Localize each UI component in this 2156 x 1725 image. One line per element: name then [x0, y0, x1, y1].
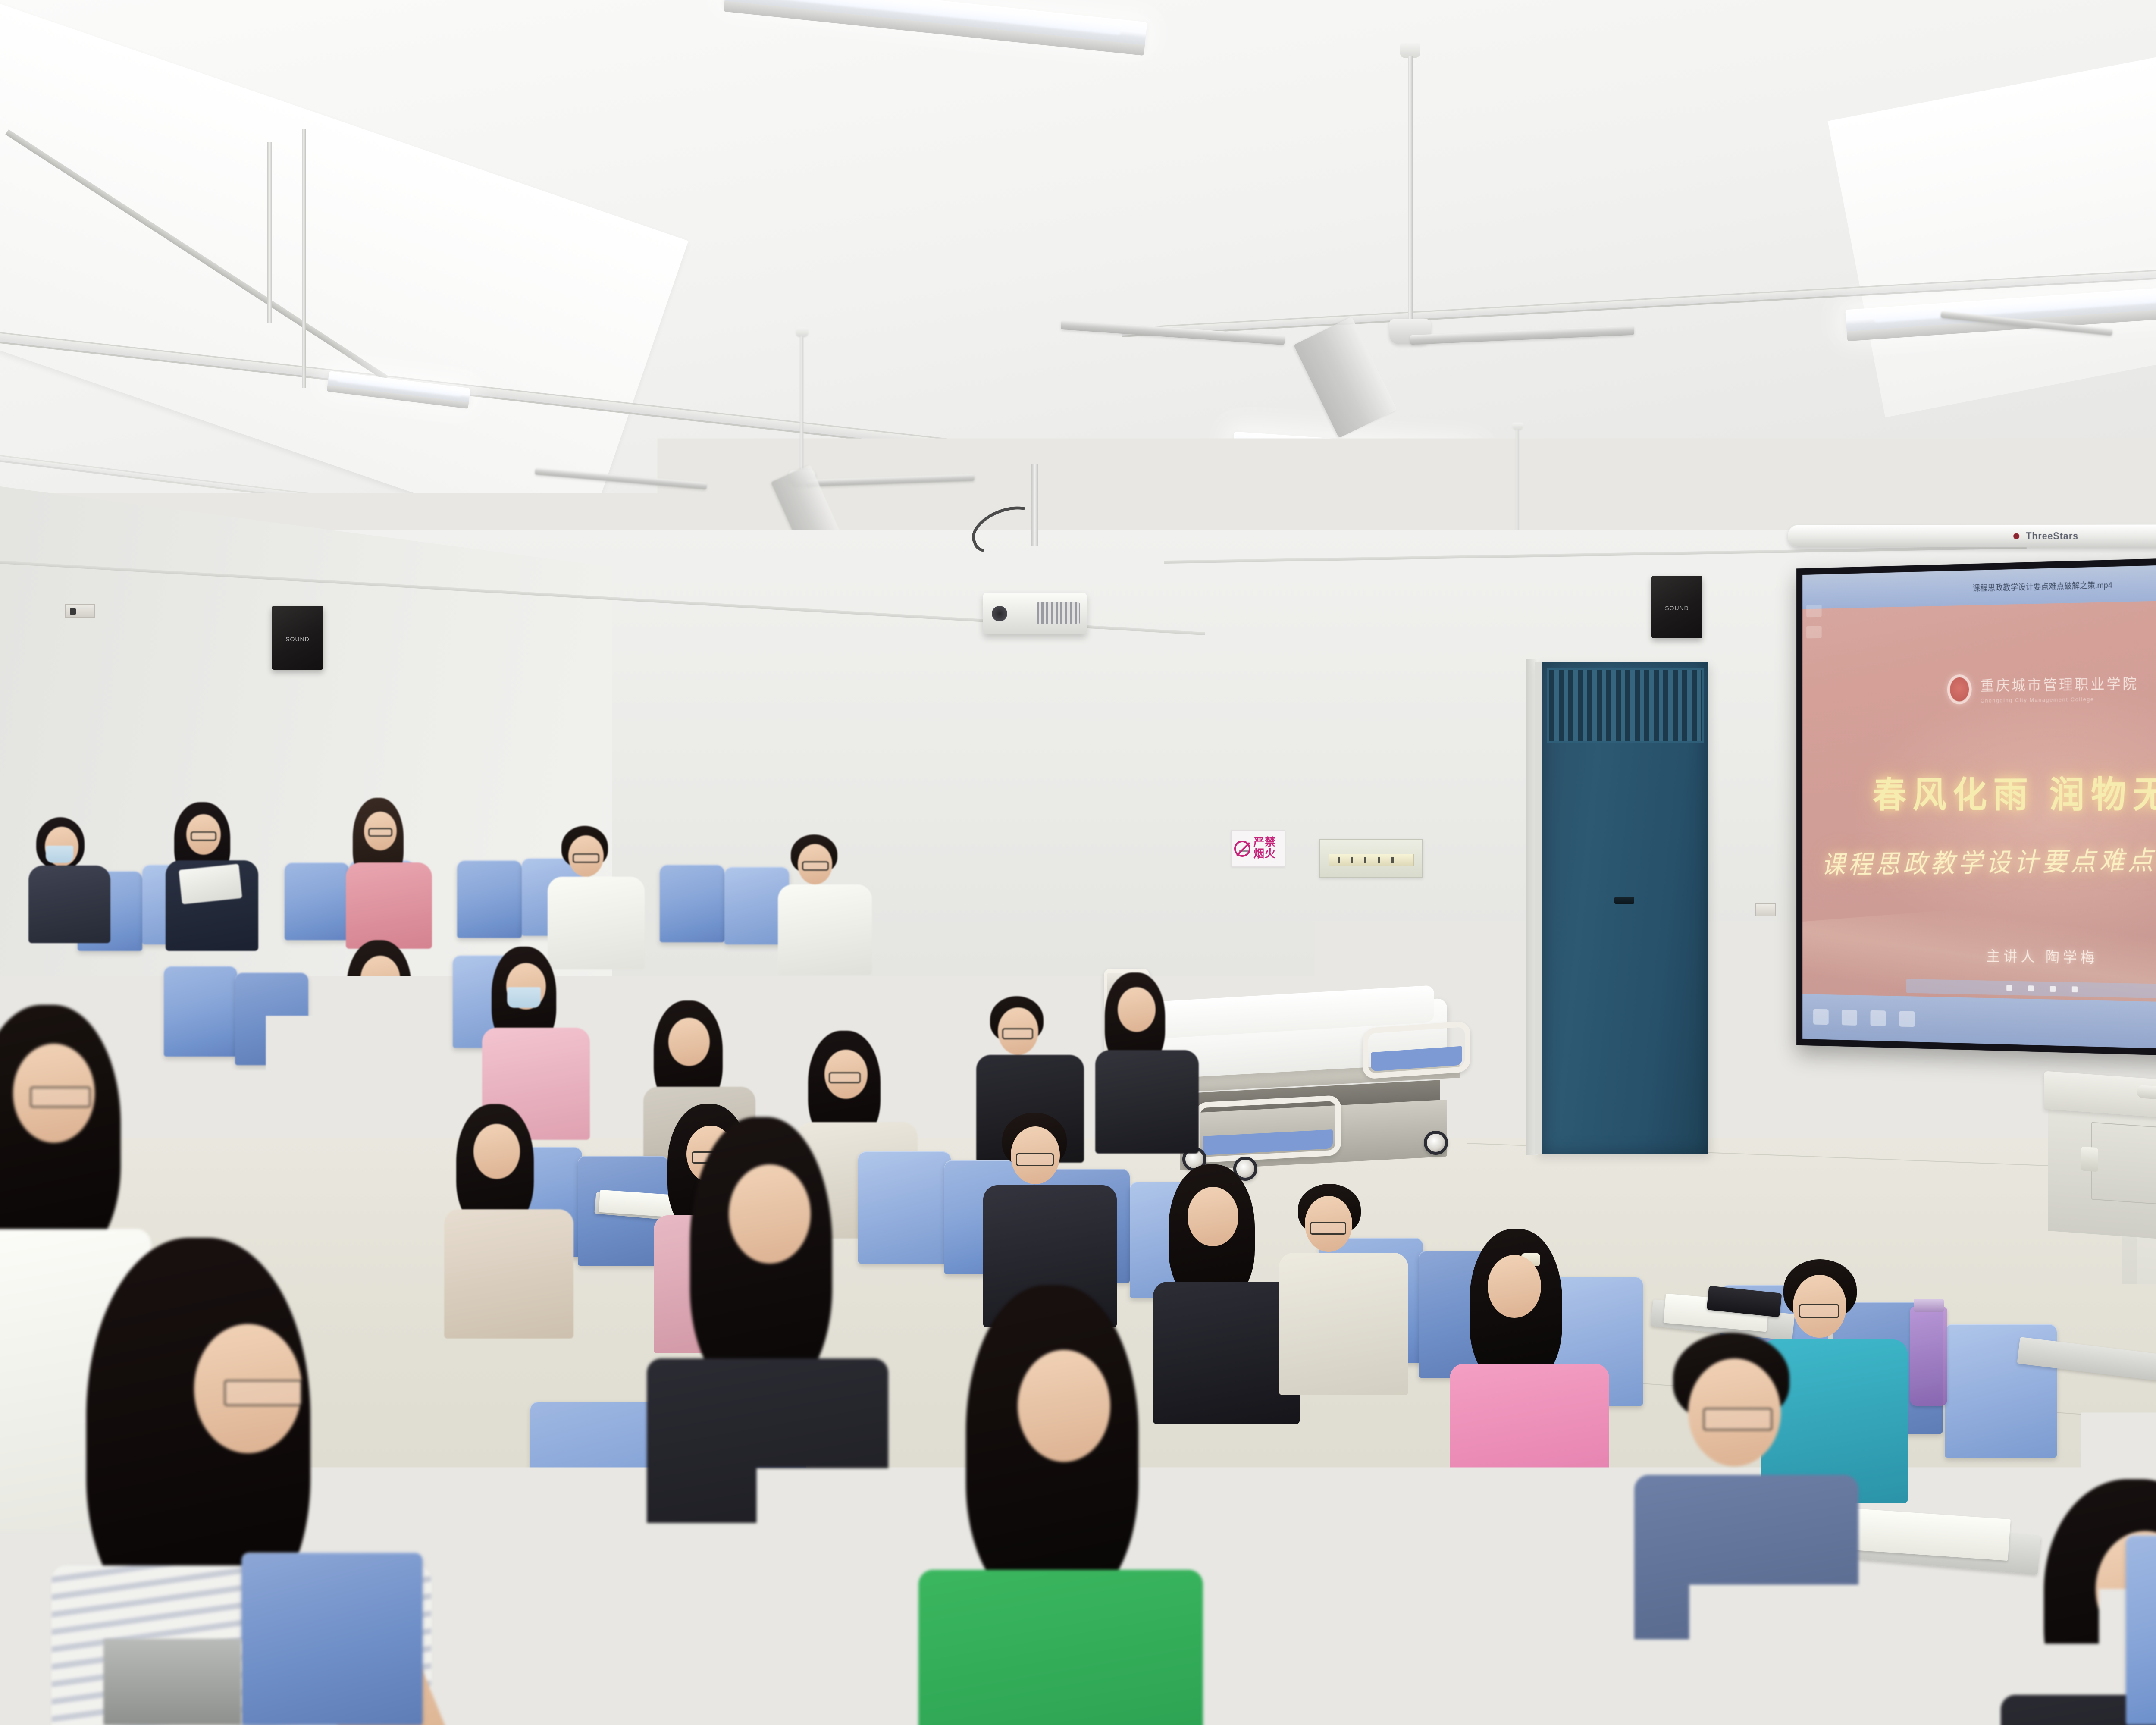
white-stripe-top [179, 864, 242, 904]
speaker-brand-label: SOUND [1665, 605, 1689, 612]
bed-caster [1424, 1131, 1448, 1155]
no-fire-text: 严禁 烟火 [1253, 837, 1276, 860]
water-bottle[interactable] [1910, 1307, 1947, 1406]
seat[interactable] [858, 1151, 951, 1264]
seat[interactable] [457, 860, 522, 938]
roller-indicator-dot [2014, 533, 2020, 539]
bottle-cap [1914, 1299, 1944, 1312]
no-smoking-icon [1234, 841, 1250, 857]
seat[interactable] [241, 1552, 423, 1725]
ceiling-fan [2027, 181, 2156, 397]
no-fire-line-1: 严禁 [1253, 837, 1276, 848]
next-icon[interactable] [2050, 986, 2056, 992]
institution-name-cn: 重庆城市管理职业学院 [1981, 672, 2139, 695]
seat[interactable] [235, 972, 308, 1065]
wall-outlet-box[interactable] [65, 604, 95, 618]
ceiling-fan [1207, 43, 1613, 431]
ppt-window-titlebar: 课程思政教学设计要点难点破解之策.mp4 [1802, 561, 2156, 609]
desktop-icons[interactable] [1806, 605, 1822, 638]
projection-screen[interactable]: 课程思政教学设计要点难点破解之策.mp4 重庆城市管理职业学院 Chongqin… [1796, 555, 2156, 1059]
fullscreen-icon[interactable] [2072, 986, 2078, 992]
college-emblem-icon [1947, 674, 1972, 705]
wall-speaker-right: SOUND [1651, 576, 1702, 638]
folder-icon[interactable] [1806, 605, 1822, 617]
speaker-brand-label: SOUND [285, 636, 310, 643]
conduit-hanger [302, 129, 306, 388]
seat[interactable] [164, 966, 237, 1057]
conduit-hanger [267, 142, 272, 323]
seat-base [103, 1639, 241, 1725]
previous-icon[interactable] [2006, 985, 2012, 991]
slide-subtitle: 课程思政教学设计要点难点破解之策 [1821, 837, 2156, 881]
no-fire-sign: 严禁 烟火 [1231, 830, 1285, 867]
multimedia-lectern[interactable] [2044, 1087, 2156, 1518]
lectern-microphone[interactable] [2081, 1147, 2098, 1172]
start-icon[interactable] [1813, 1009, 1829, 1025]
explorer-icon[interactable] [1842, 1010, 1857, 1026]
seat[interactable] [660, 865, 724, 942]
lecture-hall-photo: SOUND SOUND ThreeStars [0, 0, 2156, 1725]
media-player-icon[interactable] [1899, 1011, 1915, 1027]
classroom-door[interactable] [1535, 662, 1708, 1154]
wall-speaker-left: SOUND [272, 606, 323, 670]
no-fire-line-2: 烟火 [1253, 849, 1276, 860]
bed-side-rail[interactable] [1194, 1095, 1341, 1163]
seat[interactable] [1337, 1479, 1488, 1665]
projection-screen-roller[interactable]: ThreeStars [1788, 524, 2156, 548]
presentation-slide: 课程思政教学设计要点难点破解之策.mp4 重庆城市管理职业学院 Chongqin… [1802, 561, 2156, 1052]
browser-icon[interactable] [1871, 1010, 1886, 1026]
door-handle[interactable] [1614, 897, 1634, 904]
screen-brand-label: ThreeStars [2026, 530, 2078, 542]
slide-main-title: 春风化雨 润物无声 [1873, 765, 2156, 818]
door-transom-grille [1547, 668, 1704, 743]
seat[interactable] [1475, 1518, 1630, 1708]
slide-speaker-credit: 主讲人 陶学梅 [1987, 945, 2098, 967]
bed-side-rail[interactable] [1363, 1021, 1470, 1079]
play-icon[interactable] [2028, 985, 2034, 991]
institution-name-en: Chongqing City Management College [1981, 696, 2139, 704]
seat[interactable] [285, 862, 349, 940]
seat[interactable] [2126, 1535, 2156, 1725]
media-playback-bar[interactable] [1906, 979, 2156, 999]
institution-logo: 重庆城市管理职业学院 Chongqing City Management Col… [1947, 672, 2139, 705]
ppt-filename-label: 课程思政教学设计要点难点破解之策.mp4 [1972, 579, 2112, 593]
wall-switch[interactable] [1755, 903, 1776, 916]
electrical-panel [1319, 839, 1423, 878]
windows-taskbar[interactable] [1802, 994, 2156, 1052]
ceiling-projector [983, 533, 1112, 645]
document-icon[interactable] [1806, 626, 1822, 638]
